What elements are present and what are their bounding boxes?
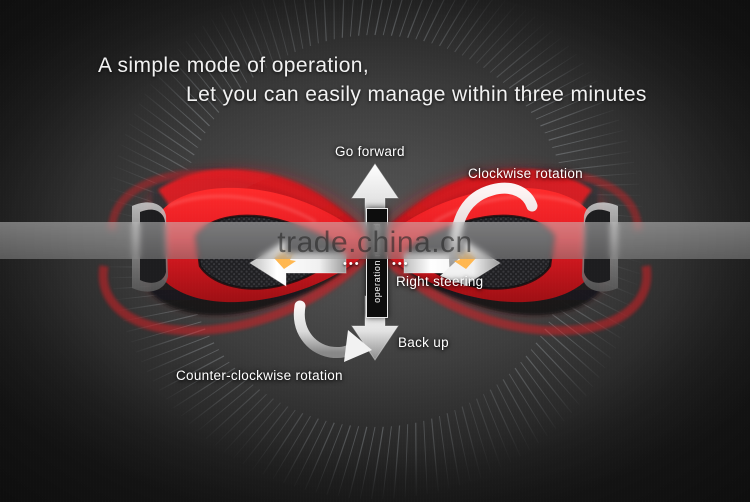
infographic-canvas: A simple mode of operation, Let you can … bbox=[0, 0, 750, 502]
label-go-forward: Go forward bbox=[335, 144, 405, 159]
label-counter-clockwise-rotation: Counter-clockwise rotation bbox=[176, 368, 343, 383]
label-back-up: Back up bbox=[398, 335, 449, 350]
label-right-steering: Right steering bbox=[396, 274, 484, 289]
watermark-text: trade.china.cn bbox=[0, 226, 750, 260]
label-clockwise-rotation: Clockwise rotation bbox=[468, 166, 583, 181]
